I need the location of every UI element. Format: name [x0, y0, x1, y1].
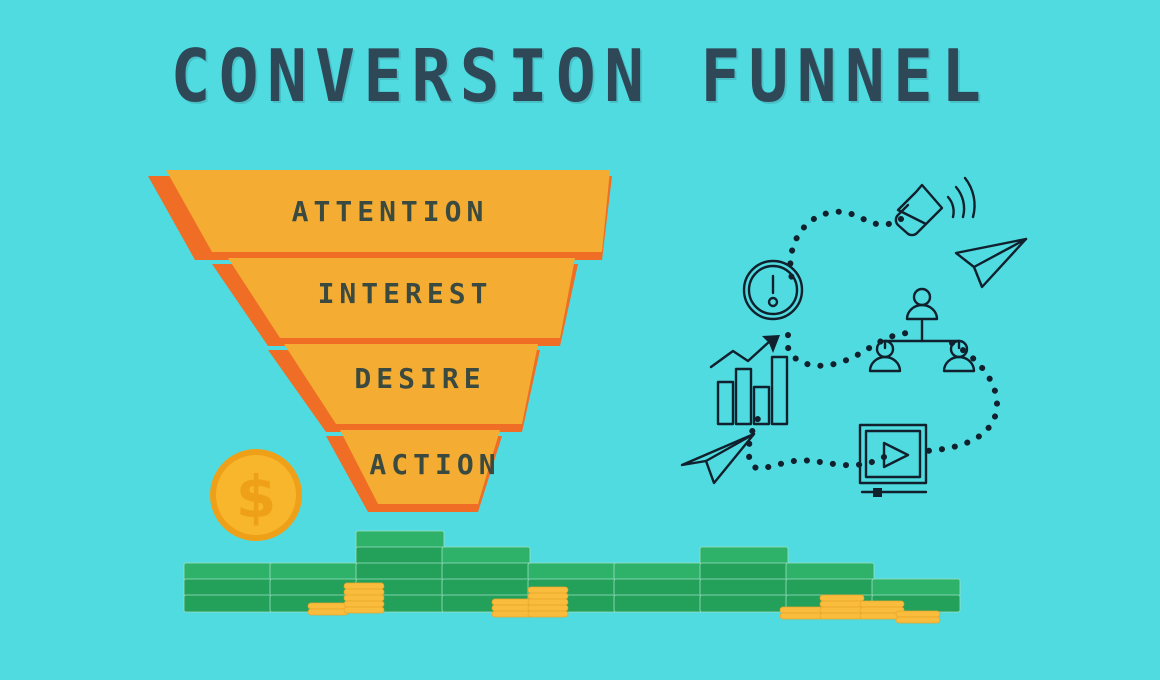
paper-plane-icon-2	[682, 434, 754, 483]
funnel-stage-label-desire: DESIRE	[270, 362, 570, 395]
funnel-stage-label-action: ACTION	[285, 448, 585, 481]
alert-circle-icon	[744, 261, 802, 319]
network-users-icon	[870, 289, 974, 371]
bar-chart-growth-icon	[711, 335, 787, 424]
megaphone-icon	[896, 178, 975, 235]
page-title: CONVERSION FUNNEL	[46, 40, 1113, 112]
funnel-stage-label-attention: ATTENTION	[240, 195, 540, 228]
marketing-icon-cluster	[670, 175, 1050, 505]
coin-dollar-symbol: $	[236, 463, 276, 531]
funnel-stage-label-interest: INTEREST	[255, 277, 555, 310]
conversion-funnel-infographic: CONVERSION FUNNEL ATTENTION INTEREST DES…	[0, 0, 1160, 680]
paper-plane-icon	[956, 239, 1026, 287]
money-stacks-graphic	[180, 525, 980, 635]
